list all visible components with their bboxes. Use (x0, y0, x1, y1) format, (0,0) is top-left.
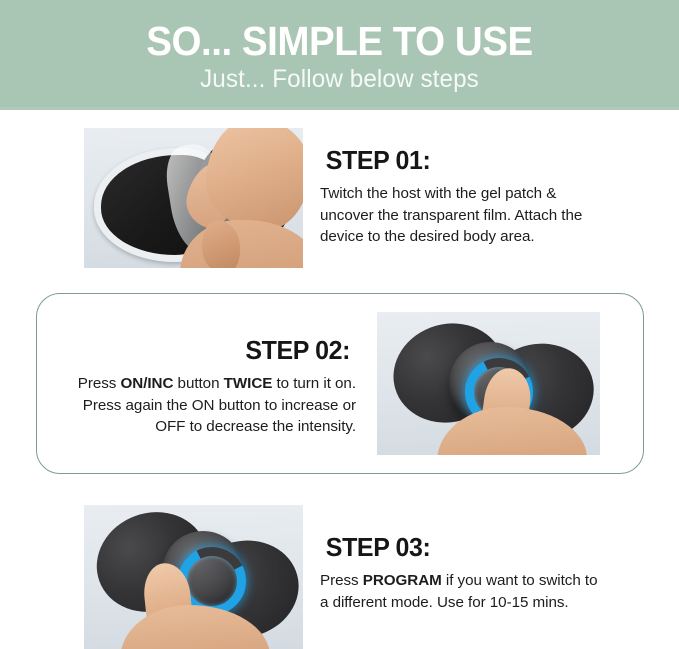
page-subtitle: Just... Follow below steps (10, 64, 669, 94)
step-02-text-block: STEP 02: Press ON/INC button TWICE to tu… (60, 336, 356, 438)
page-title: SO... SIMPLE TO USE (20, 18, 658, 64)
step-03-body: Press PROGRAM if you want to switch to a… (320, 570, 610, 613)
header-band: SO... SIMPLE TO USE Just... Follow below… (0, 0, 679, 110)
step-03-heading: STEP 03: (326, 533, 604, 561)
step-01-heading: STEP 01: (326, 146, 602, 174)
step-03-body-part-1: Press (320, 572, 363, 589)
step-02-photo (377, 312, 600, 455)
step-01-photo (84, 128, 303, 268)
step-03-body-bold-1: PROGRAM (363, 572, 442, 589)
step-01-text-block: STEP 01: Twitch the host with the gel pa… (320, 146, 608, 248)
step-02-body-bold-2: TWICE (224, 375, 273, 392)
step-03-photo (84, 505, 303, 649)
step-02-body-part-1: Press (78, 375, 121, 392)
step-01-body-text: Twitch the host with the gel patch & unc… (320, 185, 582, 245)
step-02-body: Press ON/INC button TWICE to turn it on.… (60, 373, 356, 438)
step-02-body-bold-1: ON/INC (121, 375, 174, 392)
step-01-body: Twitch the host with the gel patch & unc… (320, 183, 608, 248)
step-02-body-part-2: button (173, 375, 223, 392)
step-03-text-block: STEP 03: Press PROGRAM if you want to sw… (320, 533, 610, 613)
header-band-bottom-edge (0, 107, 679, 110)
step-02-heading: STEP 02: (66, 336, 350, 364)
